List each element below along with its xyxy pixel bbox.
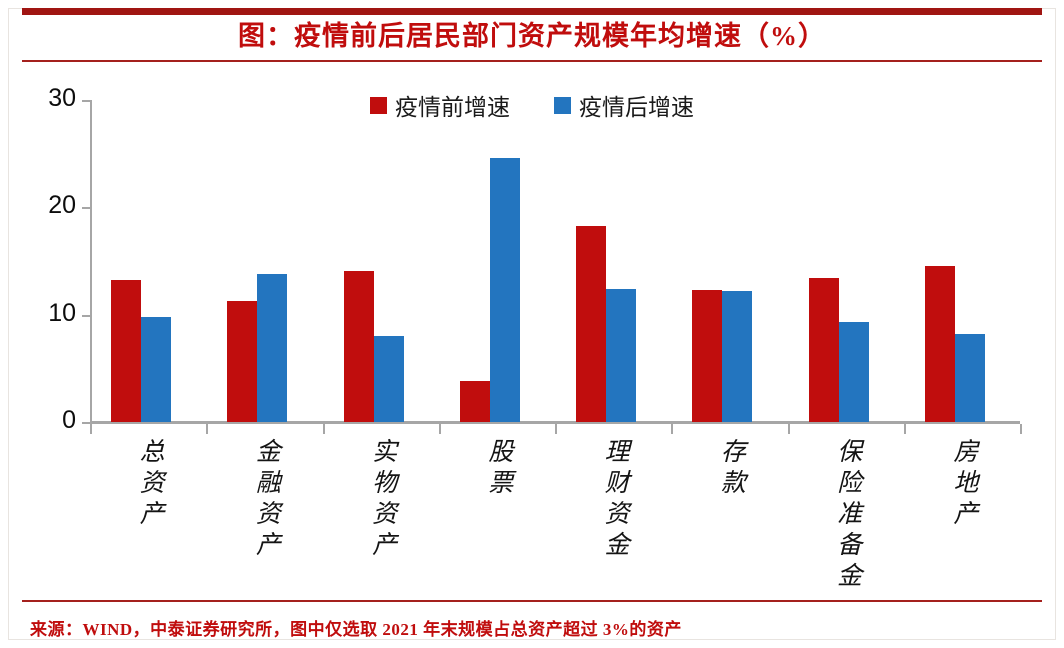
x-tick-mark xyxy=(90,424,92,434)
bar-group xyxy=(555,100,671,422)
bar-post[interactable] xyxy=(606,289,636,422)
y-tick-label: 20 xyxy=(10,191,76,220)
bar-post[interactable] xyxy=(141,317,171,422)
bars-layer xyxy=(90,100,1020,422)
bar-post[interactable] xyxy=(374,336,404,422)
bar-pre[interactable] xyxy=(925,266,955,422)
plot-area: 疫情前增速 疫情后增速 0102030 总资产金融资产实物资产股票理财资金存款保… xyxy=(0,62,1064,598)
x-axis-label: 总资产 xyxy=(135,437,169,530)
footer-rule xyxy=(22,600,1042,602)
page-title: 图：疫情前后居民部门资产规模年均增速（%） xyxy=(0,19,1064,53)
bar-post[interactable] xyxy=(257,274,287,422)
bar-group xyxy=(788,100,904,422)
x-tick-mark xyxy=(904,424,906,434)
bar-group xyxy=(206,100,322,422)
x-axis-label: 存款 xyxy=(716,437,750,499)
bar-post[interactable] xyxy=(722,291,752,422)
x-axis-label: 保险准备金 xyxy=(833,437,867,592)
x-tick-mark xyxy=(555,424,557,434)
x-tick-mark xyxy=(323,424,325,434)
y-tick-label: 10 xyxy=(10,299,76,328)
bar-pre[interactable] xyxy=(809,278,839,422)
bar-post[interactable] xyxy=(490,158,520,422)
bar-pre[interactable] xyxy=(227,301,257,422)
x-tick-mark xyxy=(1020,424,1022,434)
x-tick-mark xyxy=(439,424,441,434)
bar-group xyxy=(904,100,1020,422)
chart-page: 图：疫情前后居民部门资产规模年均增速（%） 疫情前增速 疫情后增速 010203… xyxy=(0,0,1064,648)
bar-group xyxy=(323,100,439,422)
bar-group xyxy=(90,100,206,422)
bar-group xyxy=(671,100,787,422)
x-axis-label: 理财资金 xyxy=(600,437,634,561)
bar-pre[interactable] xyxy=(692,290,722,422)
x-tick-mark xyxy=(206,424,208,434)
y-tick-label: 0 xyxy=(10,406,76,435)
x-axis-label: 股票 xyxy=(484,437,518,499)
x-axis-labels: 总资产金融资产实物资产股票理财资金存款保险准备金房地产 xyxy=(90,437,1020,597)
source-note: 来源：WIND，中泰证券研究所，图中仅选取 2021 年末规模占总资产超过 3%… xyxy=(30,615,682,640)
bar-pre[interactable] xyxy=(576,226,606,422)
bar-post[interactable] xyxy=(955,334,985,422)
bar-post[interactable] xyxy=(839,322,869,422)
x-tick-mark xyxy=(671,424,673,434)
bar-pre[interactable] xyxy=(344,271,374,422)
bar-pre[interactable] xyxy=(460,381,490,422)
bar-pre[interactable] xyxy=(111,280,141,422)
x-axis-label: 金融资产 xyxy=(251,437,285,561)
x-axis-label: 房地产 xyxy=(949,437,983,530)
x-axis-label: 实物资产 xyxy=(368,437,402,561)
y-tick-label: 30 xyxy=(10,84,76,113)
x-tick-mark xyxy=(788,424,790,434)
header-rule xyxy=(22,8,1042,15)
bar-group xyxy=(439,100,555,422)
